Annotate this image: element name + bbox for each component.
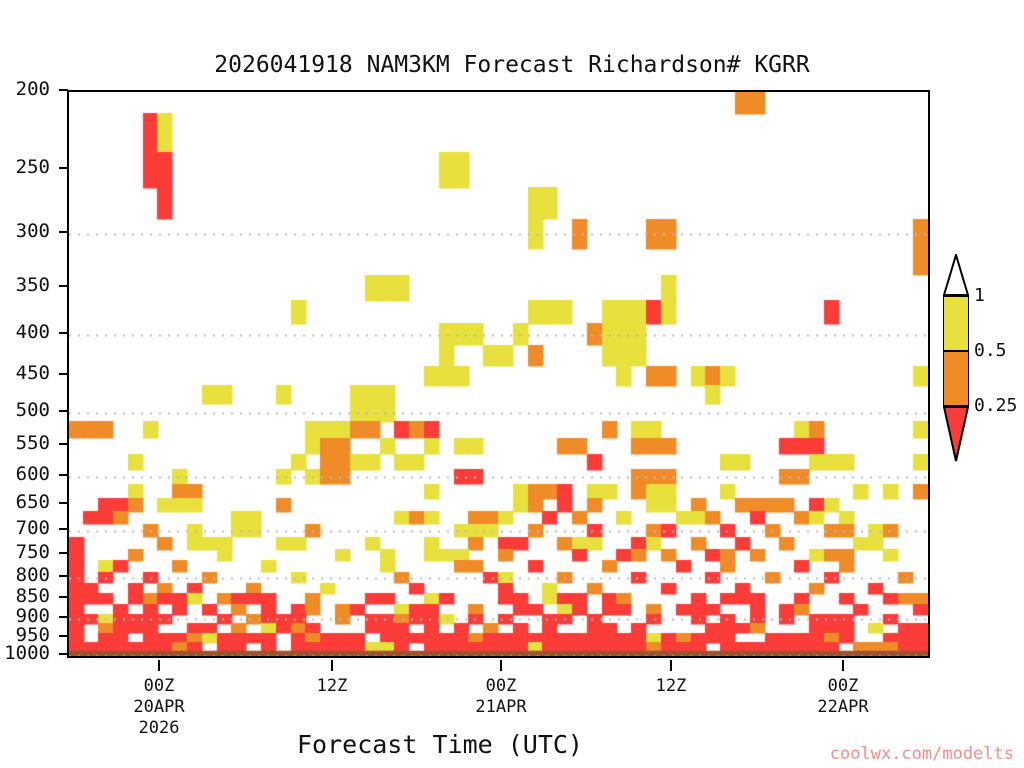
x-tick-time: 12Z bbox=[271, 676, 393, 697]
x-axis-tick-label: 12Z bbox=[610, 676, 732, 697]
y-axis-tick-label: 1000 bbox=[4, 644, 50, 663]
colorbar-top-arrow bbox=[943, 254, 969, 296]
y-axis-tick-label: 550 bbox=[16, 434, 50, 453]
x-tick-date: 22APR bbox=[782, 697, 904, 718]
y-axis-tick-label: 700 bbox=[16, 519, 50, 538]
colorbar-segment bbox=[943, 296, 969, 351]
plot-area bbox=[67, 90, 930, 658]
x-axis-tick-mark bbox=[500, 660, 502, 671]
chart-title: 2026041918 NAM3KM Forecast Richardson# K… bbox=[0, 52, 1024, 78]
y-axis-tick-label: 400 bbox=[16, 323, 50, 342]
colorbar-tick-label: 1 bbox=[974, 287, 985, 305]
y-axis: 2002503003504004505005506006507007508008… bbox=[0, 0, 60, 768]
y-axis-tick-label: 250 bbox=[16, 158, 50, 177]
colorbar-tick-label: 0.5 bbox=[974, 342, 1007, 360]
x-tick-time: 00Z bbox=[782, 676, 904, 697]
y-axis-tick-label: 200 bbox=[16, 80, 50, 99]
x-tick-date: 20APR bbox=[98, 697, 220, 718]
x-tick-time: 00Z bbox=[440, 676, 562, 697]
colorbar-bottom-arrow bbox=[943, 406, 969, 462]
x-tick-time: 12Z bbox=[610, 676, 732, 697]
x-axis-tick-mark bbox=[158, 660, 160, 671]
x-axis-tick-mark bbox=[331, 660, 333, 671]
watermark: coolwx.com/modelts bbox=[0, 744, 1014, 764]
y-axis-tick-label: 850 bbox=[16, 587, 50, 606]
x-axis-tick-label: 12Z bbox=[271, 676, 393, 697]
x-tick-time: 00Z bbox=[98, 676, 220, 697]
colorbar-segment bbox=[943, 351, 969, 406]
richardson-heatmap-canvas bbox=[69, 92, 928, 656]
y-axis-tick-label: 350 bbox=[16, 276, 50, 295]
y-axis-tick-label: 750 bbox=[16, 543, 50, 562]
y-axis-tick-label: 800 bbox=[16, 566, 50, 585]
x-axis-tick-mark bbox=[670, 660, 672, 671]
colorbar-legend: 10.50.25 bbox=[943, 296, 969, 461]
colorbar-tick-label: 0.25 bbox=[974, 397, 1017, 415]
x-tick-date: 21APR bbox=[440, 697, 562, 718]
y-axis-tick-label: 450 bbox=[16, 364, 50, 383]
x-axis-tick-label: 00Z22APR bbox=[782, 676, 904, 718]
y-axis-tick-label: 500 bbox=[16, 401, 50, 420]
y-axis-tick-label: 600 bbox=[16, 465, 50, 484]
x-axis-tick-mark bbox=[842, 660, 844, 671]
chart-page: 2026041918 NAM3KM Forecast Richardson# K… bbox=[0, 0, 1024, 768]
y-axis-tick-label: 300 bbox=[16, 222, 50, 241]
x-axis-tick-label: 00Z21APR bbox=[440, 676, 562, 718]
y-axis-tick-label: 650 bbox=[16, 493, 50, 512]
